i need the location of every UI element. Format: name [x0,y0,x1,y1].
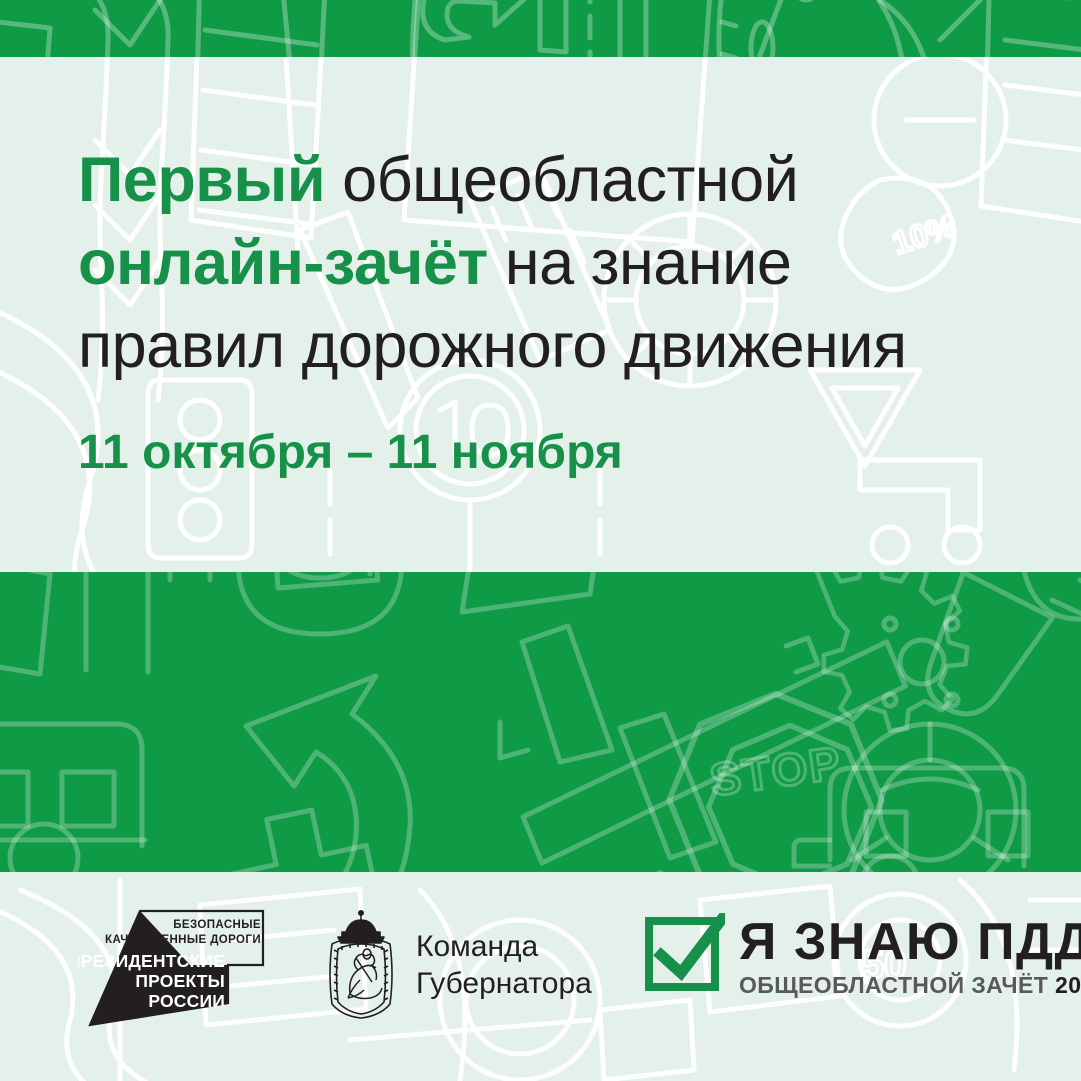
logo-ya-znayu-pdd[interactable]: Я ЗНАЮ ПДД ОБЩЕОБЛАСТНОЙ ЗАЧЁТ 2021 [645,913,1035,1023]
pdd-subtitle: ОБЩЕОБЛАСТНОЙ ЗАЧЁТ 2021 [739,972,1081,999]
green-checkbox-checked-icon [645,913,725,991]
bkd-top-line-1: БЕЗОПАСНЫЕ [173,919,261,931]
pdd-year: 2021 [1055,972,1081,998]
headline-line-2-rest: на знание [488,228,792,298]
headline-line-1-rest: общеобластной [325,145,798,215]
bkd-black-line-3: РОССИИ [148,991,225,1011]
governor-team-label: Команда Губернатора [416,928,592,1002]
governor-line-1: Команда [416,930,538,963]
event-dates: 11 октября – 11 ноября [78,425,623,480]
logo-governor-team[interactable]: Команда Губернатора [320,905,610,1025]
pdd-subtitle-text: ОБЩЕОБЛАСТНОЙ ЗАЧЁТ [739,972,1048,998]
page-title: Первый общеобластной онлайн-зачёт на зна… [78,139,1038,388]
bkd-black-line-2: ПРОЕКТЫ [135,971,225,991]
poster-root: 10% [0,0,1081,1081]
footer-logos: БЕЗОПАСНЫЕ КАЧЕСТВЕННЫЕ ДОРОГИ ПРЕЗИДЕНТ… [0,895,1081,1075]
poster-content: Первый общеобластной онлайн-зачёт на зна… [0,0,1081,1081]
bkd-black-line-1: ПРЕЗИДЕНТСКИЕ [78,951,225,971]
headline-line-2: онлайн-зачёт на знание [78,222,1038,305]
moscow-oblast-coat-of-arms-icon [320,910,402,1020]
headline-accent-first: Первый [78,145,325,215]
pdd-text-block: Я ЗНАЮ ПДД ОБЩЕОБЛАСТНОЙ ЗАЧЁТ 2021 [739,913,1081,999]
headline-line-1: Первый общеобластной [78,139,1038,222]
pdd-title: Я ЗНАЮ ПДД [739,915,1081,969]
headline-accent-online: онлайн-зачёт [78,228,488,298]
headline-line-3: правил дорожного движения [78,305,1038,388]
bkd-top-line-2: КАЧЕСТВЕННЫЕ ДОРОГИ [105,934,261,946]
governor-line-2: Губернатора [416,967,592,1000]
logo-bezopasnye-kachestvennye-dorogi[interactable]: БЕЗОПАСНЫЕ КАЧЕСТВЕННЫЕ ДОРОГИ ПРЕЗИДЕНТ… [78,907,288,1032]
